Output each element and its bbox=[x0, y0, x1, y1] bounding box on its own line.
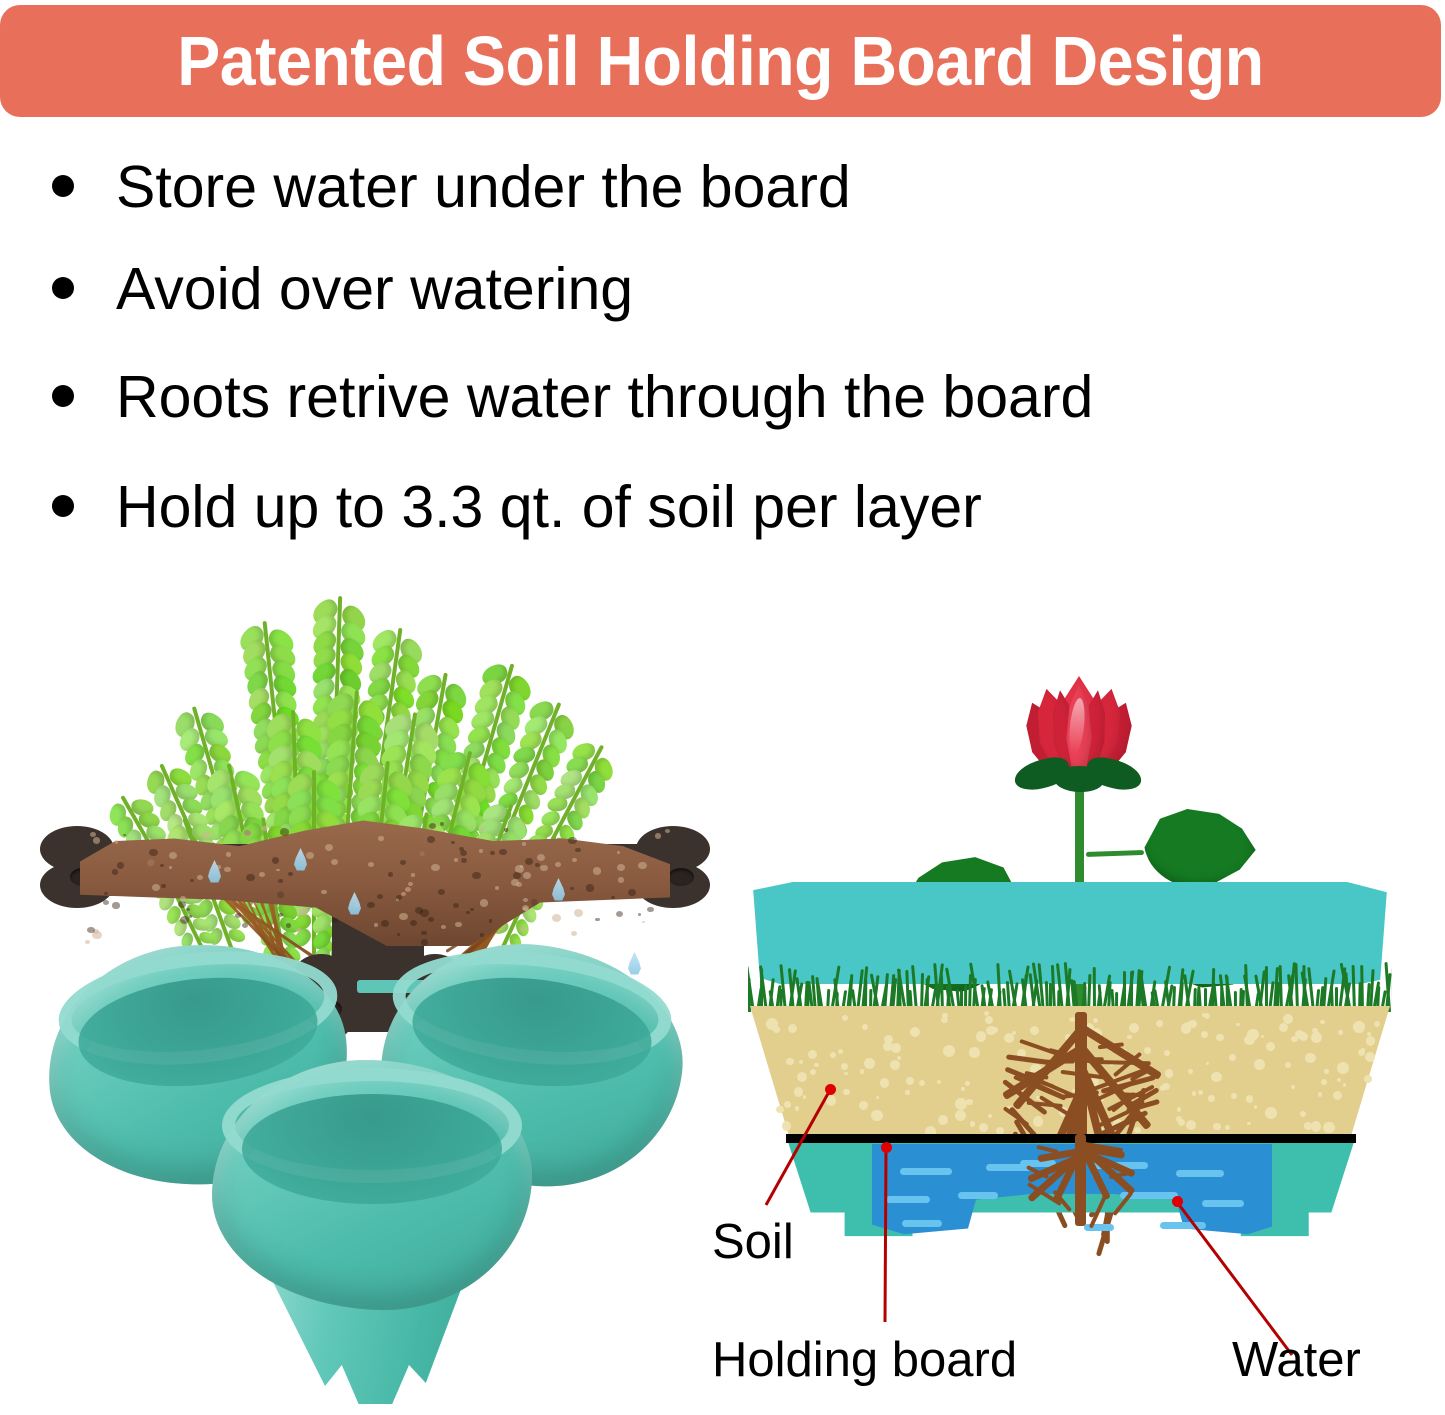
soil-speck bbox=[410, 920, 417, 926]
list-item: Hold up to 3.3 qt. of soil per layer bbox=[52, 478, 982, 537]
soil-speck bbox=[87, 927, 95, 933]
roots-in-water bbox=[690, 640, 1445, 1415]
soil-speck bbox=[540, 865, 547, 871]
soil-speck bbox=[321, 890, 326, 895]
soil-speck bbox=[117, 862, 125, 868]
page-title: Patented Soil Holding Board Design bbox=[177, 26, 1263, 96]
soil-speck bbox=[278, 913, 283, 917]
soil-speck bbox=[466, 911, 470, 914]
soil-speck bbox=[638, 862, 646, 869]
feature-label: Hold up to 3.3 qt. of soil per layer bbox=[116, 478, 982, 537]
soil-speck bbox=[523, 907, 528, 911]
soil-speck bbox=[537, 854, 545, 861]
soil-speck bbox=[401, 892, 406, 896]
soil-speck bbox=[85, 940, 90, 944]
soil-speck bbox=[617, 851, 620, 854]
feature-label: Avoid over watering bbox=[116, 260, 633, 319]
soil-speck bbox=[638, 913, 641, 916]
bullet-icon bbox=[52, 495, 74, 517]
list-item: Roots retrive water through the board bbox=[52, 368, 1093, 427]
soil-speck bbox=[381, 920, 389, 927]
soil-speck bbox=[286, 923, 291, 927]
soil-speck bbox=[454, 858, 458, 862]
soil-speck bbox=[568, 837, 577, 845]
soil-speck bbox=[522, 822, 526, 825]
soil-speck bbox=[461, 858, 467, 863]
soil-speck bbox=[152, 884, 160, 890]
soil-speck bbox=[499, 849, 506, 855]
soil-speck bbox=[570, 887, 574, 890]
soil-speck bbox=[92, 931, 101, 939]
soil-speck bbox=[595, 918, 599, 922]
soil-speck bbox=[572, 858, 577, 862]
bullet-icon bbox=[52, 277, 74, 299]
soil-speck bbox=[451, 841, 454, 844]
soil-speck bbox=[421, 939, 429, 945]
feature-label: Roots retrive water through the board bbox=[116, 368, 1093, 427]
soil-speck bbox=[453, 903, 459, 908]
soil-speck bbox=[552, 914, 561, 922]
soil-speck bbox=[593, 867, 602, 875]
soil-speck bbox=[411, 873, 415, 876]
cross-section-diagram bbox=[690, 640, 1445, 1415]
root-branch bbox=[1112, 1191, 1133, 1216]
soil-speck bbox=[325, 844, 333, 851]
soil-speck bbox=[246, 874, 255, 881]
soil-speck bbox=[611, 896, 615, 899]
bullet-icon bbox=[52, 175, 74, 197]
soil-speck bbox=[574, 909, 583, 917]
soil-speck bbox=[513, 872, 521, 879]
soil-speck bbox=[197, 875, 203, 880]
planter-lobe-inner bbox=[242, 1094, 502, 1204]
soil-speck bbox=[408, 882, 413, 886]
soil-speck bbox=[186, 908, 190, 911]
soil-speck bbox=[169, 852, 177, 859]
list-item: Avoid over watering bbox=[52, 260, 633, 319]
soil-speck bbox=[306, 852, 314, 859]
soil-speck bbox=[374, 923, 379, 927]
soil-speck bbox=[112, 902, 119, 908]
soil-speck bbox=[489, 919, 493, 922]
soil-speck bbox=[93, 837, 100, 843]
soil-speck bbox=[378, 836, 383, 841]
soil-speck bbox=[522, 842, 527, 846]
soil-speck bbox=[421, 931, 426, 936]
soil-speck bbox=[617, 864, 625, 871]
list-item: Store water under the board bbox=[52, 158, 851, 217]
soil-speck bbox=[455, 922, 461, 927]
infographic-page: Patented Soil Holding Board Design Store… bbox=[0, 0, 1445, 1415]
feature-label: Store water under the board bbox=[116, 158, 851, 217]
soil-speck bbox=[115, 840, 119, 843]
soil-speck bbox=[571, 931, 577, 936]
soil-speck bbox=[169, 866, 172, 869]
soil-speck bbox=[420, 909, 429, 916]
soil-speck bbox=[495, 886, 499, 890]
soil-speck bbox=[665, 829, 670, 833]
soil-speck bbox=[480, 827, 485, 831]
soil-speck bbox=[259, 872, 265, 877]
soil-speck bbox=[331, 859, 338, 865]
bullet-icon bbox=[52, 385, 74, 407]
soil-speck bbox=[399, 913, 407, 920]
soil-speck bbox=[472, 872, 480, 879]
product-photo-stackable-planter bbox=[30, 560, 720, 1410]
soil-speck bbox=[178, 901, 186, 908]
soil-speck bbox=[427, 836, 435, 843]
header-banner: Patented Soil Holding Board Design bbox=[0, 5, 1441, 117]
soil-speck bbox=[655, 833, 661, 838]
soil-speck bbox=[261, 826, 268, 832]
soil-speck bbox=[388, 872, 393, 876]
soil-speck bbox=[480, 899, 489, 906]
soil-speck bbox=[272, 857, 280, 863]
soil-speck bbox=[479, 849, 483, 853]
soil-speck bbox=[523, 872, 531, 878]
soil-speck bbox=[299, 908, 308, 916]
soil-speck bbox=[280, 828, 289, 835]
soil-speck bbox=[586, 884, 595, 891]
soil-speck bbox=[278, 879, 283, 883]
soil-speck bbox=[90, 832, 96, 837]
soil-speck bbox=[400, 860, 406, 865]
soil-speck bbox=[431, 864, 440, 872]
root-branch bbox=[1089, 1193, 1108, 1228]
soil-speck bbox=[160, 864, 163, 867]
soil-speck bbox=[575, 848, 581, 853]
soil-speck bbox=[440, 822, 444, 825]
